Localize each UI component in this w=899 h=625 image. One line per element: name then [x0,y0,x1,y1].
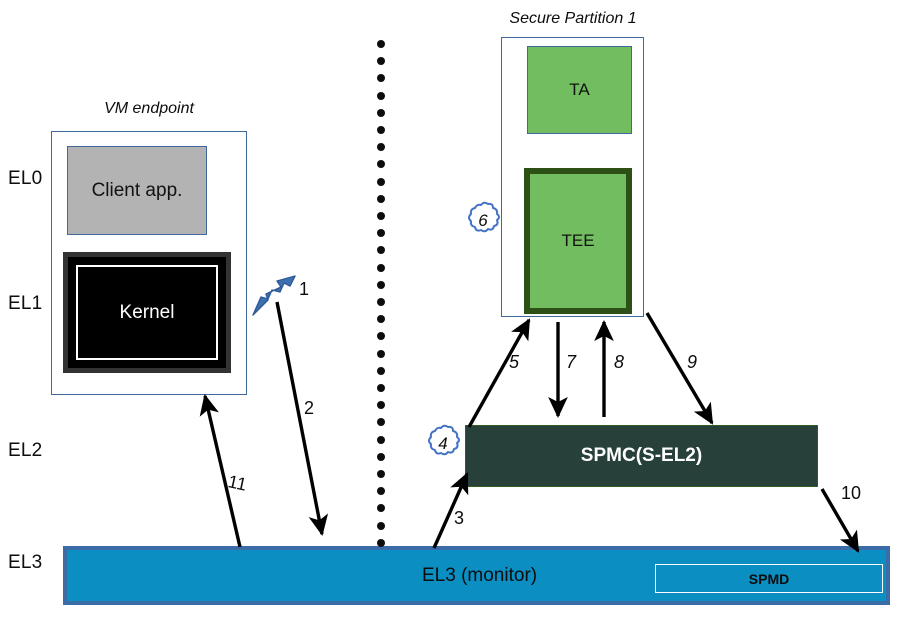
divider-dot [377,178,385,186]
secure-nonsecure-divider [377,40,386,540]
divider-dot [377,126,385,134]
tee-box: TEE [524,168,632,314]
divider-dot [377,264,385,272]
secure-partition-title: Secure Partition 1 [490,10,656,28]
tee-label: TEE [561,231,594,251]
divider-dot [377,539,385,547]
arrow-label-10: 10 [841,483,861,504]
el-label-el2: EL2 [8,440,42,462]
el-label-el0: EL0 [8,168,42,190]
arrow-label-2: 2 [304,398,314,419]
arrow-label-8: 8 [614,352,624,373]
divider-dot [377,195,385,203]
ta-box: TA [527,46,632,134]
kernel-label: Kernel [120,302,175,324]
arrow-label-7: 7 [566,352,576,373]
divider-dot [377,384,385,392]
diagram-canvas: EL0 EL1 EL2 EL3 VM endpoint Client app. … [0,0,899,625]
el3-monitor-label: EL3 (monitor) [422,565,537,587]
arrow-5 [469,320,529,427]
client-app-label: Client app. [92,180,183,202]
cloud-callout-6: 6 [462,200,504,242]
divider-dot [377,74,385,82]
divider-dot [377,229,385,237]
client-app-box: Client app. [67,146,207,235]
el3-monitor-bar: EL3 (monitor) SPMD [63,546,890,605]
divider-dot [377,212,385,220]
divider-dot [377,160,385,168]
divider-dot [377,401,385,409]
spmc-box: SPMC(S-EL2) [465,425,818,487]
spmd-label: SPMD [749,571,789,587]
divider-dot [377,470,385,478]
divider-dot [377,281,385,289]
spmc-label: SPMC(S-EL2) [581,445,702,467]
divider-dot [377,57,385,65]
divider-dot [377,522,385,530]
spmd-box: SPMD [655,564,883,593]
cloud-callout-4-label: 4 [422,434,464,454]
el-label-el1: EL1 [8,293,42,315]
kernel-box: Kernel [63,252,231,373]
divider-dot [377,436,385,444]
divider-dot [377,246,385,254]
divider-dot [377,367,385,375]
divider-dot [377,298,385,306]
divider-dot [377,350,385,358]
divider-dot [377,143,385,151]
arrow-label-1: 1 [299,279,309,300]
divider-dot [377,487,385,495]
cloud-callout-4: 4 [422,423,464,465]
arrow-label-9: 9 [687,352,697,373]
ta-label: TA [569,80,589,100]
arrow-label-3: 3 [454,508,464,529]
lightning-bolt-icon [253,276,295,315]
divider-dot [377,453,385,461]
divider-dot [377,92,385,100]
divider-dot [377,40,385,48]
arrow-9 [647,313,712,423]
divider-dot [377,332,385,340]
divider-dot [377,504,385,512]
arrow-label-5: 5 [509,352,519,373]
kernel-inner-frame: Kernel [76,265,218,360]
divider-dot [377,315,385,323]
divider-dot [377,418,385,426]
vm-endpoint-title: VM endpoint [60,100,238,118]
divider-dot [377,109,385,117]
cloud-callout-6-label: 6 [462,211,504,231]
arrow-label-11: 11 [226,471,249,495]
el-label-el3: EL3 [8,552,42,574]
arrow-2 [277,302,322,534]
